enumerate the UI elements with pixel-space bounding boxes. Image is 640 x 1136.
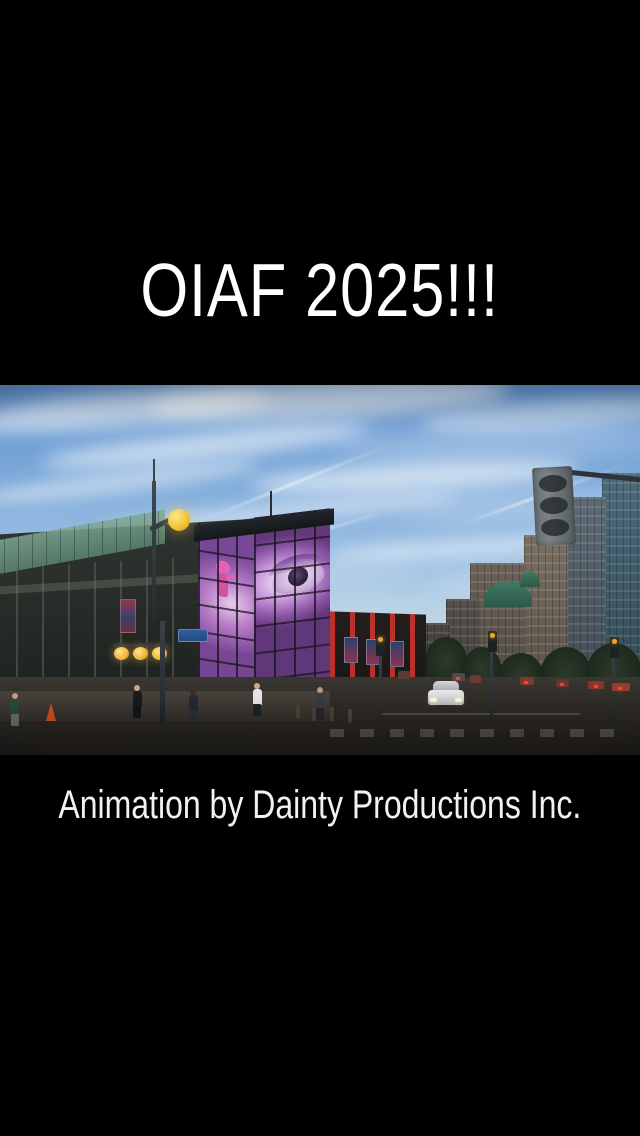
title-overlay-band: OIAF 2025!!! (0, 220, 640, 360)
traffic-cone (46, 703, 56, 721)
headlight (430, 698, 437, 702)
pedestrian (186, 689, 200, 723)
traffic-signal-amber (376, 635, 385, 656)
taillight (560, 683, 564, 686)
pedestrian (8, 693, 21, 725)
distant-vehicle (398, 671, 410, 679)
street-banner (390, 641, 404, 667)
page-title: OIAF 2025!!! (141, 253, 500, 328)
bollard (330, 707, 334, 721)
bollard (348, 709, 352, 723)
sidewalk-lamp-post (160, 621, 165, 725)
signal-lens (541, 518, 570, 536)
attribution-caption: Animation by Dainty Productions Inc. (59, 785, 582, 825)
signal-pole (490, 649, 493, 725)
lamp-post (152, 481, 156, 621)
headlight (455, 698, 462, 702)
video-player-screen: OIAF 2025!!! (0, 0, 640, 1136)
street-sign (178, 629, 208, 642)
antenna (270, 491, 272, 517)
taillight (456, 677, 460, 680)
traffic-signal-housing (532, 466, 576, 546)
pedestrian (250, 683, 264, 719)
taillight (618, 687, 622, 690)
amber-globe-light (114, 647, 129, 660)
pedestrian (130, 685, 144, 721)
lamp-globe-light (168, 509, 190, 531)
bollard (312, 707, 316, 721)
pole-banner (120, 599, 136, 633)
taillight (524, 681, 528, 684)
signal-pole (379, 653, 382, 725)
traffic-signal-amber (610, 637, 619, 658)
pink-character-figure (214, 559, 234, 608)
taillight (594, 685, 598, 688)
street-banner (344, 637, 358, 663)
traffic-signal-amber (488, 631, 497, 652)
lamp-spire (153, 459, 155, 483)
amber-globe-light (133, 647, 148, 660)
caption-overlay-band: Animation by Dainty Productions Inc. (0, 770, 640, 840)
lane-marking (380, 713, 580, 715)
signal-lens (540, 496, 569, 514)
bollard (296, 705, 300, 719)
crosswalk-markings (330, 729, 630, 737)
white-car (428, 681, 464, 705)
distant-vehicle (470, 675, 481, 683)
signal-lens (538, 474, 567, 492)
video-frame (0, 385, 640, 755)
